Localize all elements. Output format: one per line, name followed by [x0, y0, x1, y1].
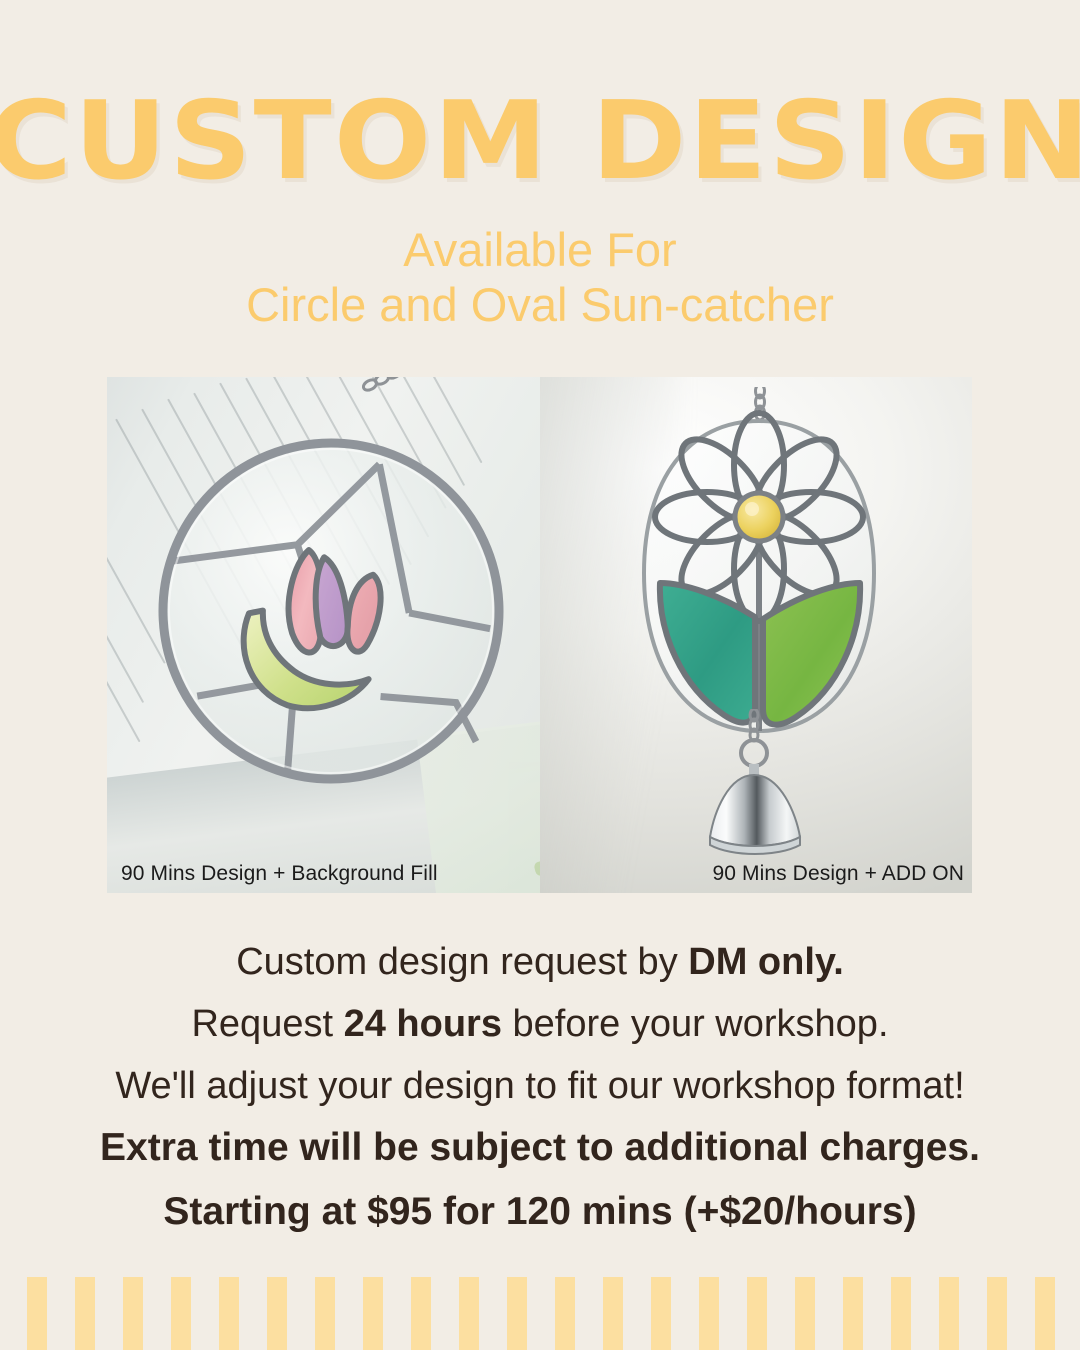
detail-line-3: We'll adjust your design to fit our work…	[0, 1064, 1080, 1109]
detail-line-1-text: Custom design request by	[236, 941, 688, 983]
detail-line-5: Starting at $95 for 120 mins (+$20/hours…	[0, 1189, 1080, 1235]
gallery-photo-right: 90 Mins Design + ADD ON	[540, 377, 972, 893]
circle-suncatcher-tulip	[142, 422, 520, 800]
page-title: CUSTOM DESIGN	[0, 88, 1080, 196]
poster: CUSTOM DESIGN Available For Circle and O…	[0, 0, 1080, 1350]
detail-line-2-emphasis: 24 hours	[344, 1003, 502, 1045]
bottom-stripe-decoration	[0, 1277, 1080, 1350]
gallery-photo-left: 90 Mins Design + Background Fill	[107, 377, 540, 893]
detail-line-2-post: before your workshop.	[502, 1003, 889, 1045]
subtitle-line-1: Available For	[403, 223, 676, 276]
detail-line-2: Request 24 hours before your workshop.	[0, 1002, 1080, 1047]
subtitle-line-2: Circle and Oval Sun-catcher	[0, 277, 1080, 332]
detail-line-2-pre: Request	[191, 1003, 343, 1045]
hanging-chain-icon	[362, 377, 492, 393]
detail-line-4: Extra time will be subject to additional…	[0, 1125, 1080, 1171]
gallery-caption-right: 90 Mins Design + ADD ON	[713, 862, 964, 886]
detail-line-1-emphasis: DM only.	[688, 941, 844, 983]
details-block: Custom design request by DM only. Reques…	[0, 940, 1080, 1252]
detail-line-1: Custom design request by DM only.	[0, 940, 1080, 985]
page-subtitle: Available For Circle and Oval Sun-catche…	[0, 222, 1080, 333]
silver-bell-charm	[692, 709, 822, 869]
gallery-caption-left: 90 Mins Design + Background Fill	[121, 862, 438, 886]
gallery: 90 Mins Design + Background Fill	[107, 377, 972, 893]
